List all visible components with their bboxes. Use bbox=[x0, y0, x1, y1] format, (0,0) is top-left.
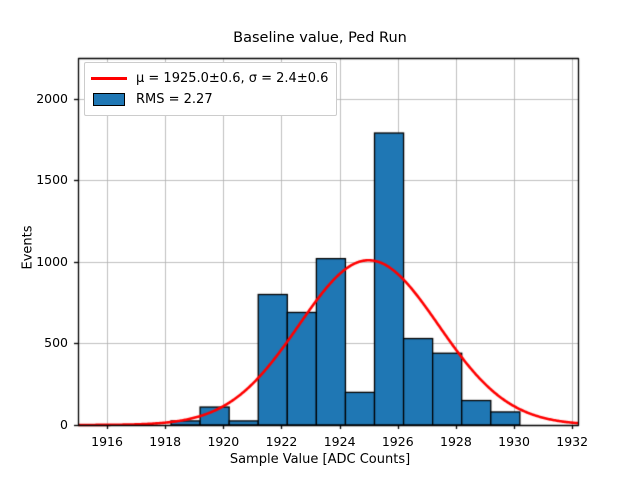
legend-label-gaussian-fit: μ = 1925.0±0.6, σ = 2.4±0.6 bbox=[136, 71, 328, 86]
chart-figure: Baseline value, Ped Run Sample Value [AD… bbox=[0, 0, 640, 480]
y-tick-label: 1500 bbox=[8, 172, 68, 187]
x-tick-label: 1916 bbox=[77, 434, 137, 449]
y-tick-label: 1000 bbox=[8, 254, 68, 269]
y-tick-label: 0 bbox=[8, 417, 68, 432]
legend-item-gaussian-fit: μ = 1925.0±0.6, σ = 2.4±0.6 bbox=[91, 68, 328, 89]
y-tick-label: 2000 bbox=[8, 91, 68, 106]
x-tick-label: 1920 bbox=[193, 434, 253, 449]
x-axis-label: Sample Value [ADC Counts] bbox=[0, 452, 640, 467]
x-tick-label: 1918 bbox=[135, 434, 195, 449]
y-tick-label: 500 bbox=[8, 335, 68, 350]
x-tick-label: 1926 bbox=[368, 434, 428, 449]
legend-label-rms: RMS = 2.27 bbox=[136, 92, 213, 107]
x-tick-label: 1932 bbox=[542, 434, 602, 449]
x-tick-label: 1922 bbox=[251, 434, 311, 449]
x-tick-label: 1924 bbox=[310, 434, 370, 449]
x-tick-label: 1928 bbox=[426, 434, 486, 449]
legend-item-rms: RMS = 2.27 bbox=[91, 89, 328, 110]
x-tick-label: 1930 bbox=[484, 434, 544, 449]
legend-patch-swatch-icon bbox=[91, 93, 127, 107]
chart-legend: μ = 1925.0±0.6, σ = 2.4±0.6 RMS = 2.27 bbox=[84, 62, 337, 116]
y-axis-label: Events bbox=[21, 198, 36, 298]
legend-line-swatch-icon bbox=[91, 72, 127, 86]
page-title: Baseline value, Ped Run bbox=[0, 30, 640, 46]
